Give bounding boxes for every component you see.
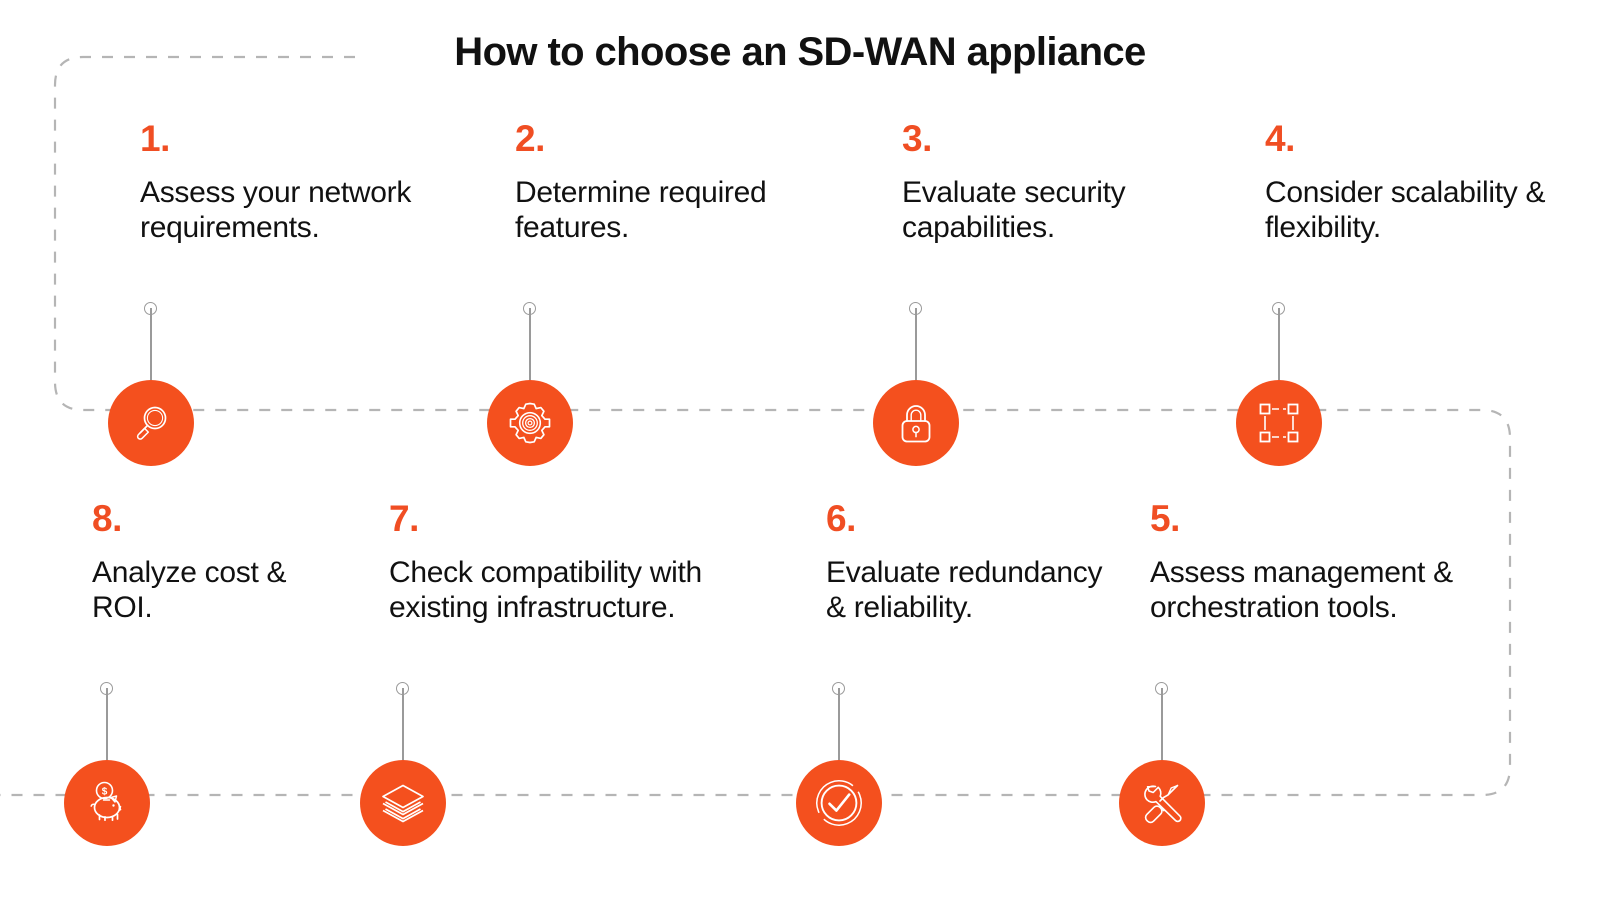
step-number: 4. <box>1265 120 1585 157</box>
tools-icon <box>1137 778 1187 828</box>
step-text: Assess management & orchestration tools. <box>1150 555 1540 625</box>
step-block-5: 5. Assess management & orchestration too… <box>1150 500 1540 625</box>
step-block-4: 4. Consider scalability & flexibility. <box>1265 120 1585 245</box>
icon-badge[interactable] <box>873 380 959 466</box>
step-number: 3. <box>902 120 1202 157</box>
step-number: 2. <box>515 120 815 157</box>
step-block-2: 2. Determine required features. <box>515 120 815 245</box>
padlock-icon <box>892 399 940 447</box>
step-block-7: 7. Check compatibility with existing inf… <box>389 500 789 625</box>
step-number: 6. <box>826 500 1126 537</box>
step-text: Consider scalability & flexibility. <box>1265 175 1585 245</box>
connector-stem <box>838 688 840 760</box>
icon-badge[interactable] <box>1236 380 1322 466</box>
magnifier-icon <box>127 399 175 447</box>
check-circle-icon <box>813 777 865 829</box>
connector-stem <box>529 308 531 380</box>
step-number: 1. <box>140 120 440 157</box>
infographic-canvas: How to choose an SD-WAN appliance 1. Ass… <box>0 0 1600 903</box>
layers-icon <box>378 778 428 828</box>
connector-stem <box>402 688 404 760</box>
icon-badge[interactable] <box>360 760 446 846</box>
icon-badge[interactable]: $ <box>64 760 150 846</box>
icon-badge[interactable] <box>796 760 882 846</box>
step-text: Evaluate redundancy & reliability. <box>826 555 1126 625</box>
step-number: 7. <box>389 500 789 537</box>
connector-stem <box>106 688 108 760</box>
page-title: How to choose an SD-WAN appliance <box>0 30 1600 75</box>
step-text: Assess your network requirements. <box>140 175 440 245</box>
connector-stem <box>1161 688 1163 760</box>
step-text: Check compatibility with existing infras… <box>389 555 789 625</box>
step-number: 8. <box>92 500 352 537</box>
svg-text:$: $ <box>102 787 108 798</box>
resize-frame-icon <box>1254 398 1304 448</box>
step-block-3: 3. Evaluate security capabilities. <box>902 120 1202 245</box>
icon-badge[interactable] <box>108 380 194 466</box>
piggy-bank-icon: $ <box>81 777 133 829</box>
icon-badge[interactable] <box>1119 760 1205 846</box>
connector-stem <box>915 308 917 380</box>
connector-stem <box>1278 308 1280 380</box>
gear-icon <box>504 397 556 449</box>
step-block-6: 6. Evaluate redundancy & reliability. <box>826 500 1126 625</box>
step-block-8: 8. Analyze cost & ROI. <box>92 500 352 625</box>
icon-badge[interactable] <box>487 380 573 466</box>
step-text: Evaluate security capabilities. <box>902 175 1202 245</box>
step-block-1: 1. Assess your network requirements. <box>140 120 440 245</box>
step-text: Analyze cost & ROI. <box>92 555 352 625</box>
step-text: Determine required features. <box>515 175 815 245</box>
connector-stem <box>150 308 152 380</box>
step-number: 5. <box>1150 500 1540 537</box>
